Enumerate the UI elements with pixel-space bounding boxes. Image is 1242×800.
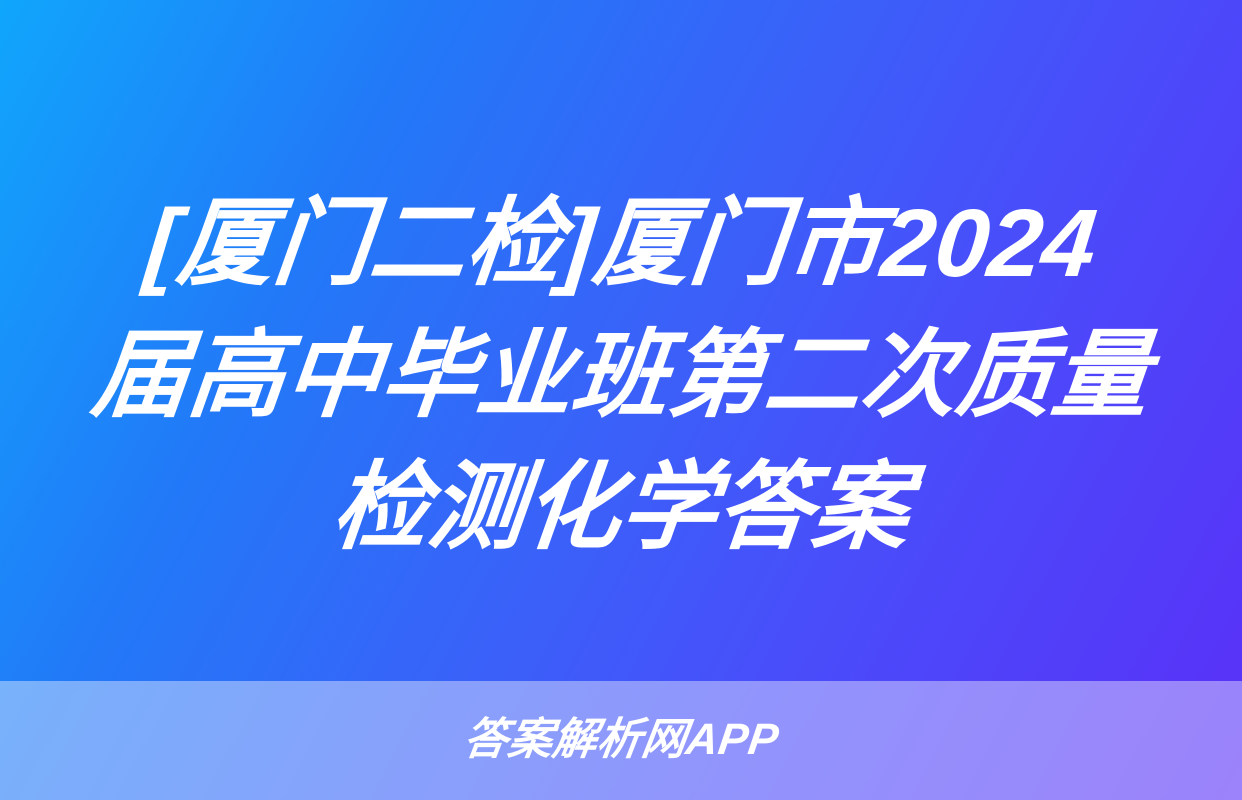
page-title-line-1: [厦门二检]厦门市2024 <box>45 178 1197 310</box>
watermark-band: 答案解析网APP <box>0 681 1242 800</box>
watermark-label: 答案解析网APP <box>460 714 782 766</box>
promo-card: [厦门二检]厦门市2024 届高中毕业班第二次质量 检测化学答案 答案解析网AP… <box>0 0 1242 800</box>
page-title-line-2: 届高中毕业班第二次质量 <box>45 310 1197 442</box>
page-title: [厦门二检]厦门市2024 届高中毕业班第二次质量 检测化学答案 <box>0 178 1242 574</box>
page-title-line-3: 检测化学答案 <box>45 442 1197 574</box>
